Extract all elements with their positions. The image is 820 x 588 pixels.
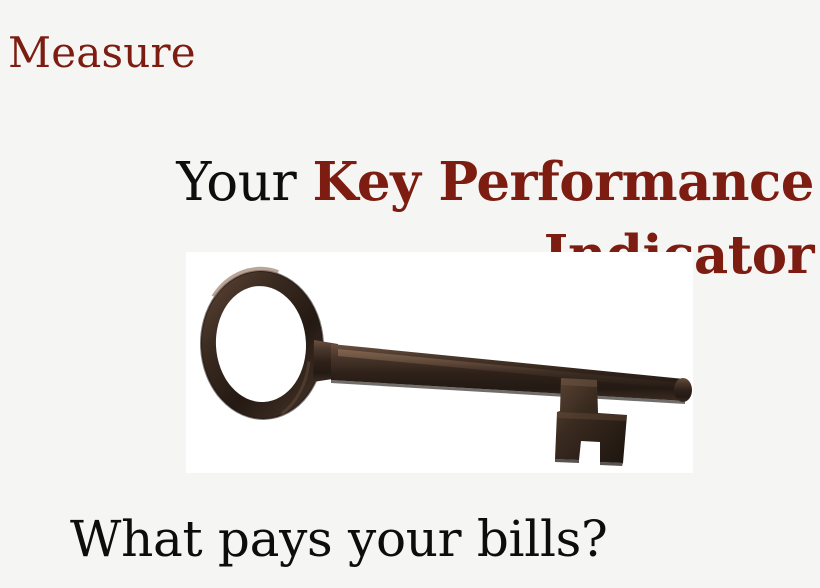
headline-lead-text: Your — [176, 152, 312, 213]
closing-question: What pays your bills? — [70, 508, 608, 570]
headline-emphasis-text: Key Performance — [313, 151, 814, 213]
headline-line-1: Your Key Performance — [0, 146, 814, 219]
kicker-heading: Measure — [8, 28, 196, 78]
skeleton-key-illustration — [186, 252, 693, 473]
slide-canvas: Measure Your Key Performance Indicator — [0, 0, 820, 588]
key-shaft-tip — [674, 378, 692, 402]
key-photo-plate — [186, 252, 693, 473]
